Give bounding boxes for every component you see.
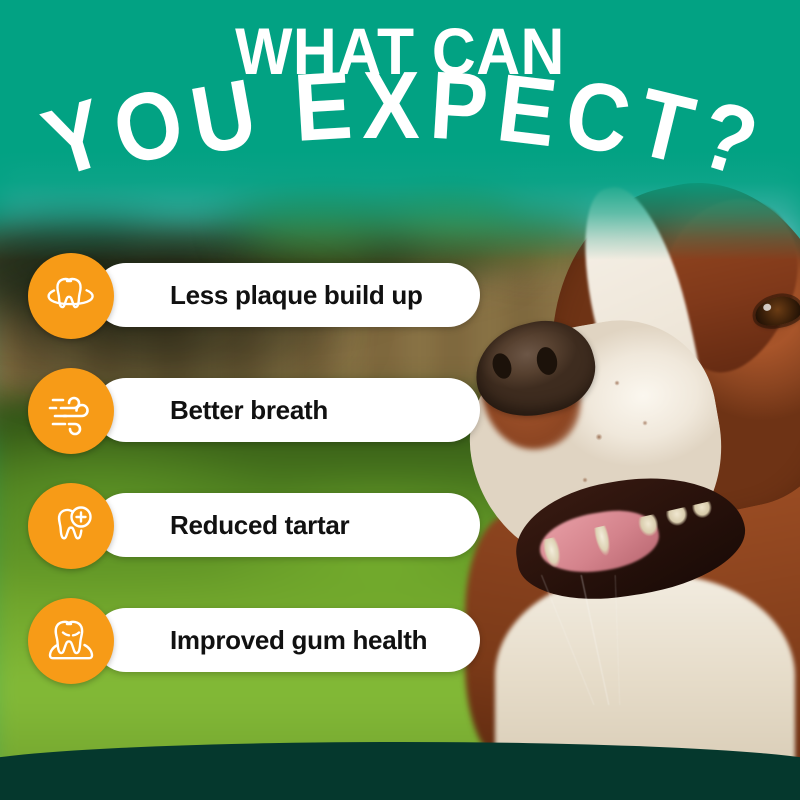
- benefit-label-4: Improved gum health: [170, 625, 427, 656]
- tooth-plus-icon: [43, 498, 99, 554]
- poster: WHAT CAN YOUEXPECT? Less plaque build up…: [0, 0, 800, 800]
- tooth-gum-icon: [42, 612, 100, 670]
- benefit-row-4[interactable]: Improved gum health: [28, 598, 480, 684]
- benefit-pill-4[interactable]: Improved gum health: [94, 608, 480, 672]
- benefit-row-3[interactable]: Reduced tartar: [28, 483, 480, 569]
- wind-breath-icon: [42, 382, 100, 440]
- benefit-badge-4: [28, 598, 114, 684]
- bottom-bar: [0, 742, 800, 800]
- benefit-pill-2[interactable]: Better breath: [94, 378, 480, 442]
- benefit-label-1: Less plaque build up: [170, 280, 423, 311]
- benefit-badge-2: [28, 368, 114, 454]
- benefit-badge-3: [28, 483, 114, 569]
- tooth-shield-icon: [43, 268, 99, 324]
- benefit-label-2: Better breath: [170, 395, 328, 426]
- benefit-badge-1: [28, 253, 114, 339]
- benefit-pill-3[interactable]: Reduced tartar: [94, 493, 480, 557]
- benefit-pill-1[interactable]: Less plaque build up: [94, 263, 480, 327]
- benefit-row-2[interactable]: Better breath: [28, 368, 480, 454]
- benefit-label-3: Reduced tartar: [170, 510, 349, 541]
- benefits-list: Less plaque build up Better breath: [0, 0, 800, 800]
- benefit-row-1[interactable]: Less plaque build up: [28, 253, 480, 339]
